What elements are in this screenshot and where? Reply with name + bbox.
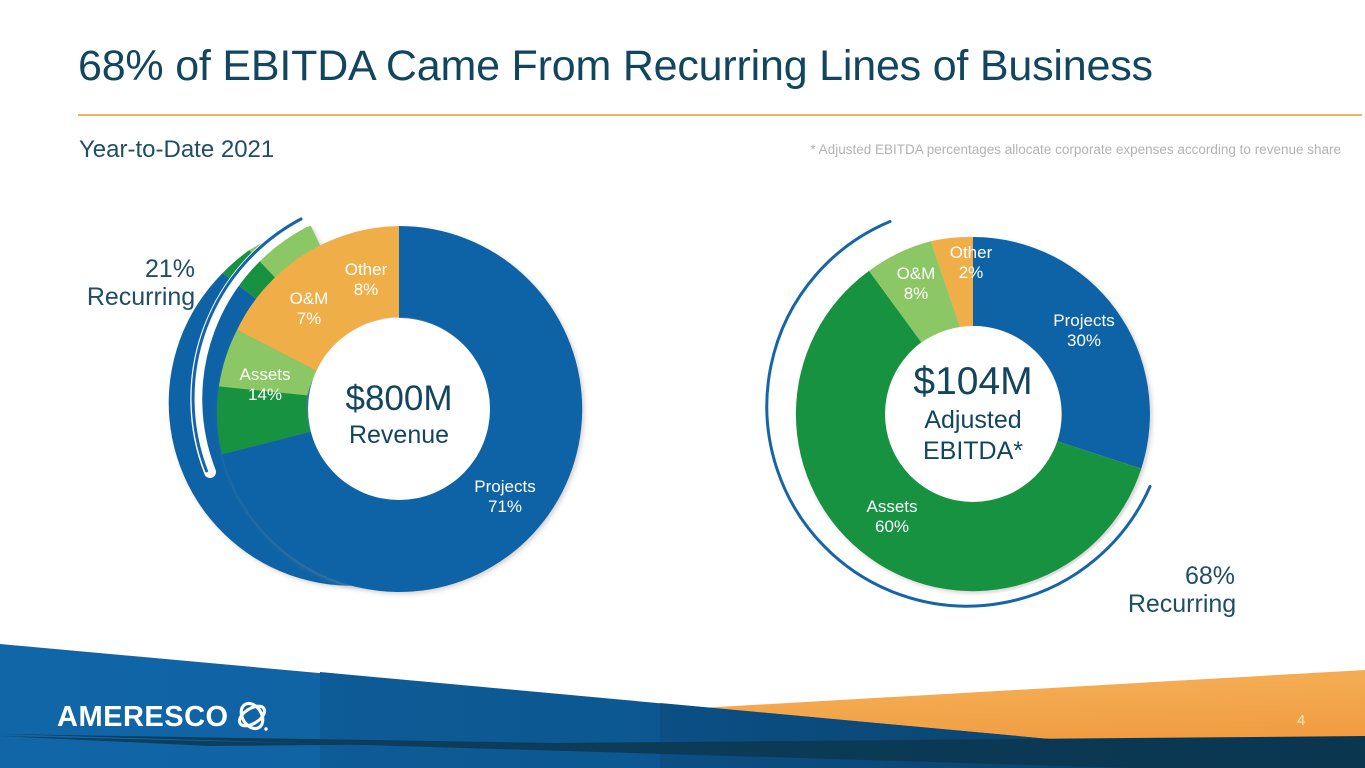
donut-center-sub-1: Adjusted <box>924 406 1021 434</box>
footnote-text: * Adjusted EBITDA percentages allocate c… <box>810 142 1341 157</box>
adjusted-ebitda-donut-chart: Projects 30% Assets 60% O&M 8% Other 2% … <box>760 200 1360 630</box>
slice-label-projects-name: Projects <box>1053 311 1114 330</box>
donut-center-amount: $104M <box>913 360 1032 403</box>
registered-mark-dot <box>264 727 267 730</box>
page-number: 4 <box>1297 712 1305 729</box>
slide-canvas: 68% of EBITDA Came From Recurring Lines … <box>0 0 1365 768</box>
slice-label-assets-pct: 14% <box>248 385 282 404</box>
slice-label-om-name: O&M <box>897 264 936 283</box>
slice-label-other-name: Other <box>950 243 993 262</box>
donut-center-sub: Revenue <box>349 421 449 449</box>
ameresco-wordmark: AMERESCO <box>57 703 229 732</box>
slice-label-assets-pct: 60% <box>875 517 909 536</box>
donut-center-sub-2: EBITDA* <box>923 437 1023 465</box>
slice-label-om-name: O&M <box>290 289 329 308</box>
revenue-donut-chart: Projects 71% Assets 14% O&M 7% Other 8% … <box>78 200 638 620</box>
slice-label-om-pct: 8% <box>904 284 929 303</box>
slice-label-other-pct: 2% <box>959 263 984 282</box>
donut-center-amount: $800M <box>345 379 452 418</box>
slide-subtitle: Year-to-Date 2021 <box>79 136 274 164</box>
title-divider <box>78 114 1362 116</box>
recurring-callout-value: 21% <box>145 255 195 283</box>
slice-label-other-name: Other <box>345 260 388 279</box>
ameresco-logo[interactable]: AMERESCO <box>57 698 273 736</box>
slice-label-projects-name: Projects <box>474 477 535 496</box>
slice-label-projects-pct: 71% <box>488 497 522 516</box>
slice-label-other-pct: 8% <box>354 280 379 299</box>
revenue-donut-svg: Projects 71% Assets 14% O&M 7% Other 8% … <box>78 200 638 620</box>
recurring-callout-value: 68% <box>1185 562 1235 590</box>
ameresco-globe-icon <box>233 698 273 736</box>
recurring-callout-label: Recurring <box>87 283 195 311</box>
adjusted-ebitda-donut-svg: Projects 30% Assets 60% O&M 8% Other 2% … <box>760 200 1360 630</box>
page-title: 68% of EBITDA Came From Recurring Lines … <box>78 42 1308 91</box>
slice-label-om-pct: 7% <box>297 309 322 328</box>
slice-label-projects-pct: 30% <box>1067 331 1101 350</box>
slice-label-assets-name: Assets <box>239 365 290 384</box>
recurring-callout-label: Recurring <box>1128 590 1236 618</box>
slice-label-assets-name: Assets <box>866 497 917 516</box>
